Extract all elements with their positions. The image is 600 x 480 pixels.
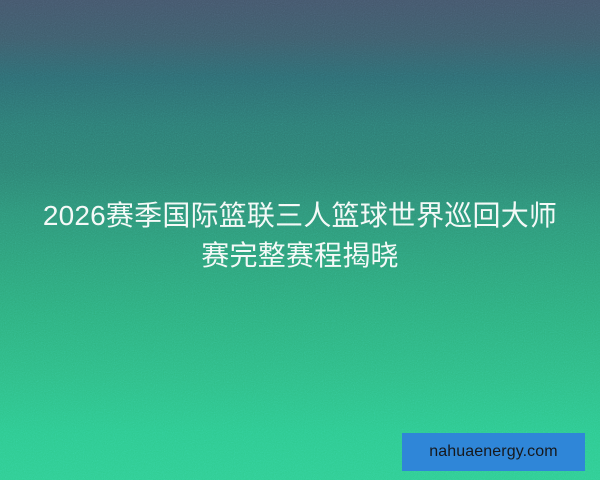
page-title: 2026赛季国际篮联三人篮球世界巡回大师赛完整赛程揭晓	[30, 196, 570, 276]
title-block: 2026赛季国际篮联三人篮球世界巡回大师赛完整赛程揭晓	[30, 196, 570, 276]
site-watermark-label: nahuaenergy.com	[429, 444, 557, 460]
hero-banner-card: 2026赛季国际篮联三人篮球世界巡回大师赛完整赛程揭晓 nahuaenergy.…	[0, 0, 600, 480]
site-watermark-badge[interactable]: nahuaenergy.com	[402, 433, 585, 471]
